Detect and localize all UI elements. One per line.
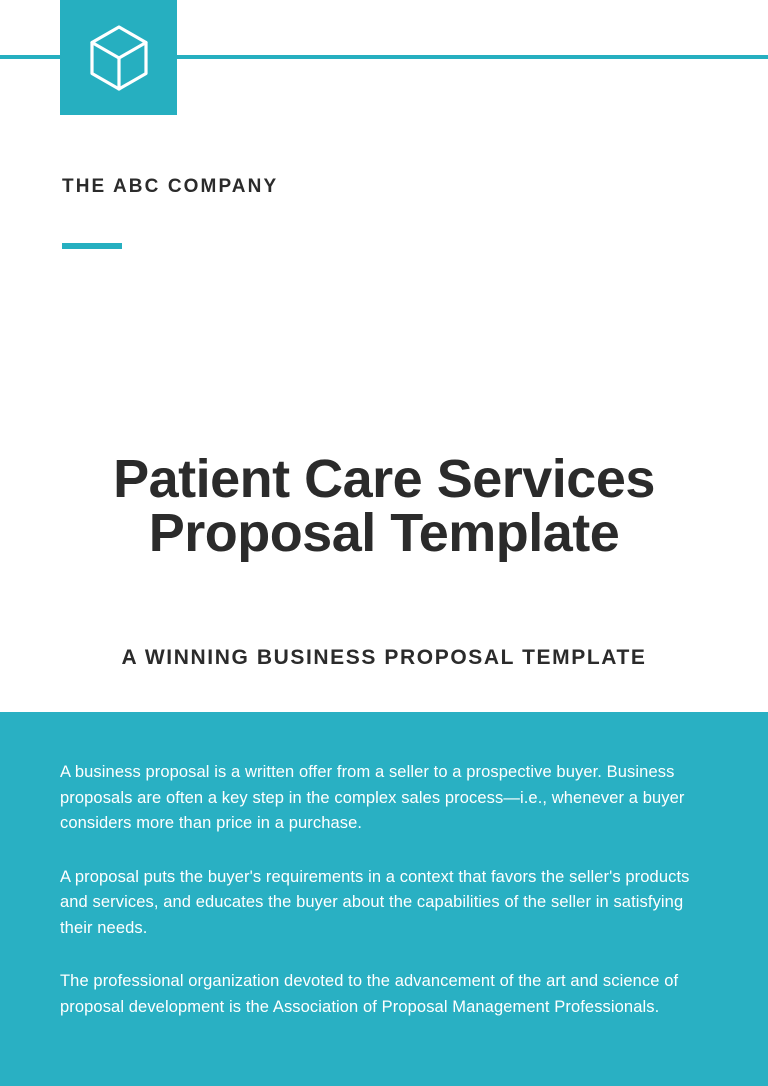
intro-paragraph: A proposal puts the buyer's requirements… [60,865,708,942]
page-title: Patient Care Services Proposal Template [0,452,768,560]
page-title-line-1: Patient Care Services [0,452,768,506]
accent-bar [62,243,122,249]
title-block: Patient Care Services Proposal Template [0,452,768,560]
page-title-line-2: Proposal Template [0,506,768,560]
document-header [0,0,768,130]
intro-paragraph: A business proposal is a written offer f… [60,760,708,837]
intro-panel: A business proposal is a written offer f… [0,712,768,1086]
company-name: THE ABC COMPANY [62,176,278,198]
intro-paragraphs: A business proposal is a written offer f… [60,760,708,1020]
cube-icon [88,23,150,93]
page-subtitle: A WINNING BUSINESS PROPOSAL TEMPLATE [0,646,768,670]
intro-paragraph: The professional organization devoted to… [60,969,708,1020]
logo-tile [60,0,177,115]
